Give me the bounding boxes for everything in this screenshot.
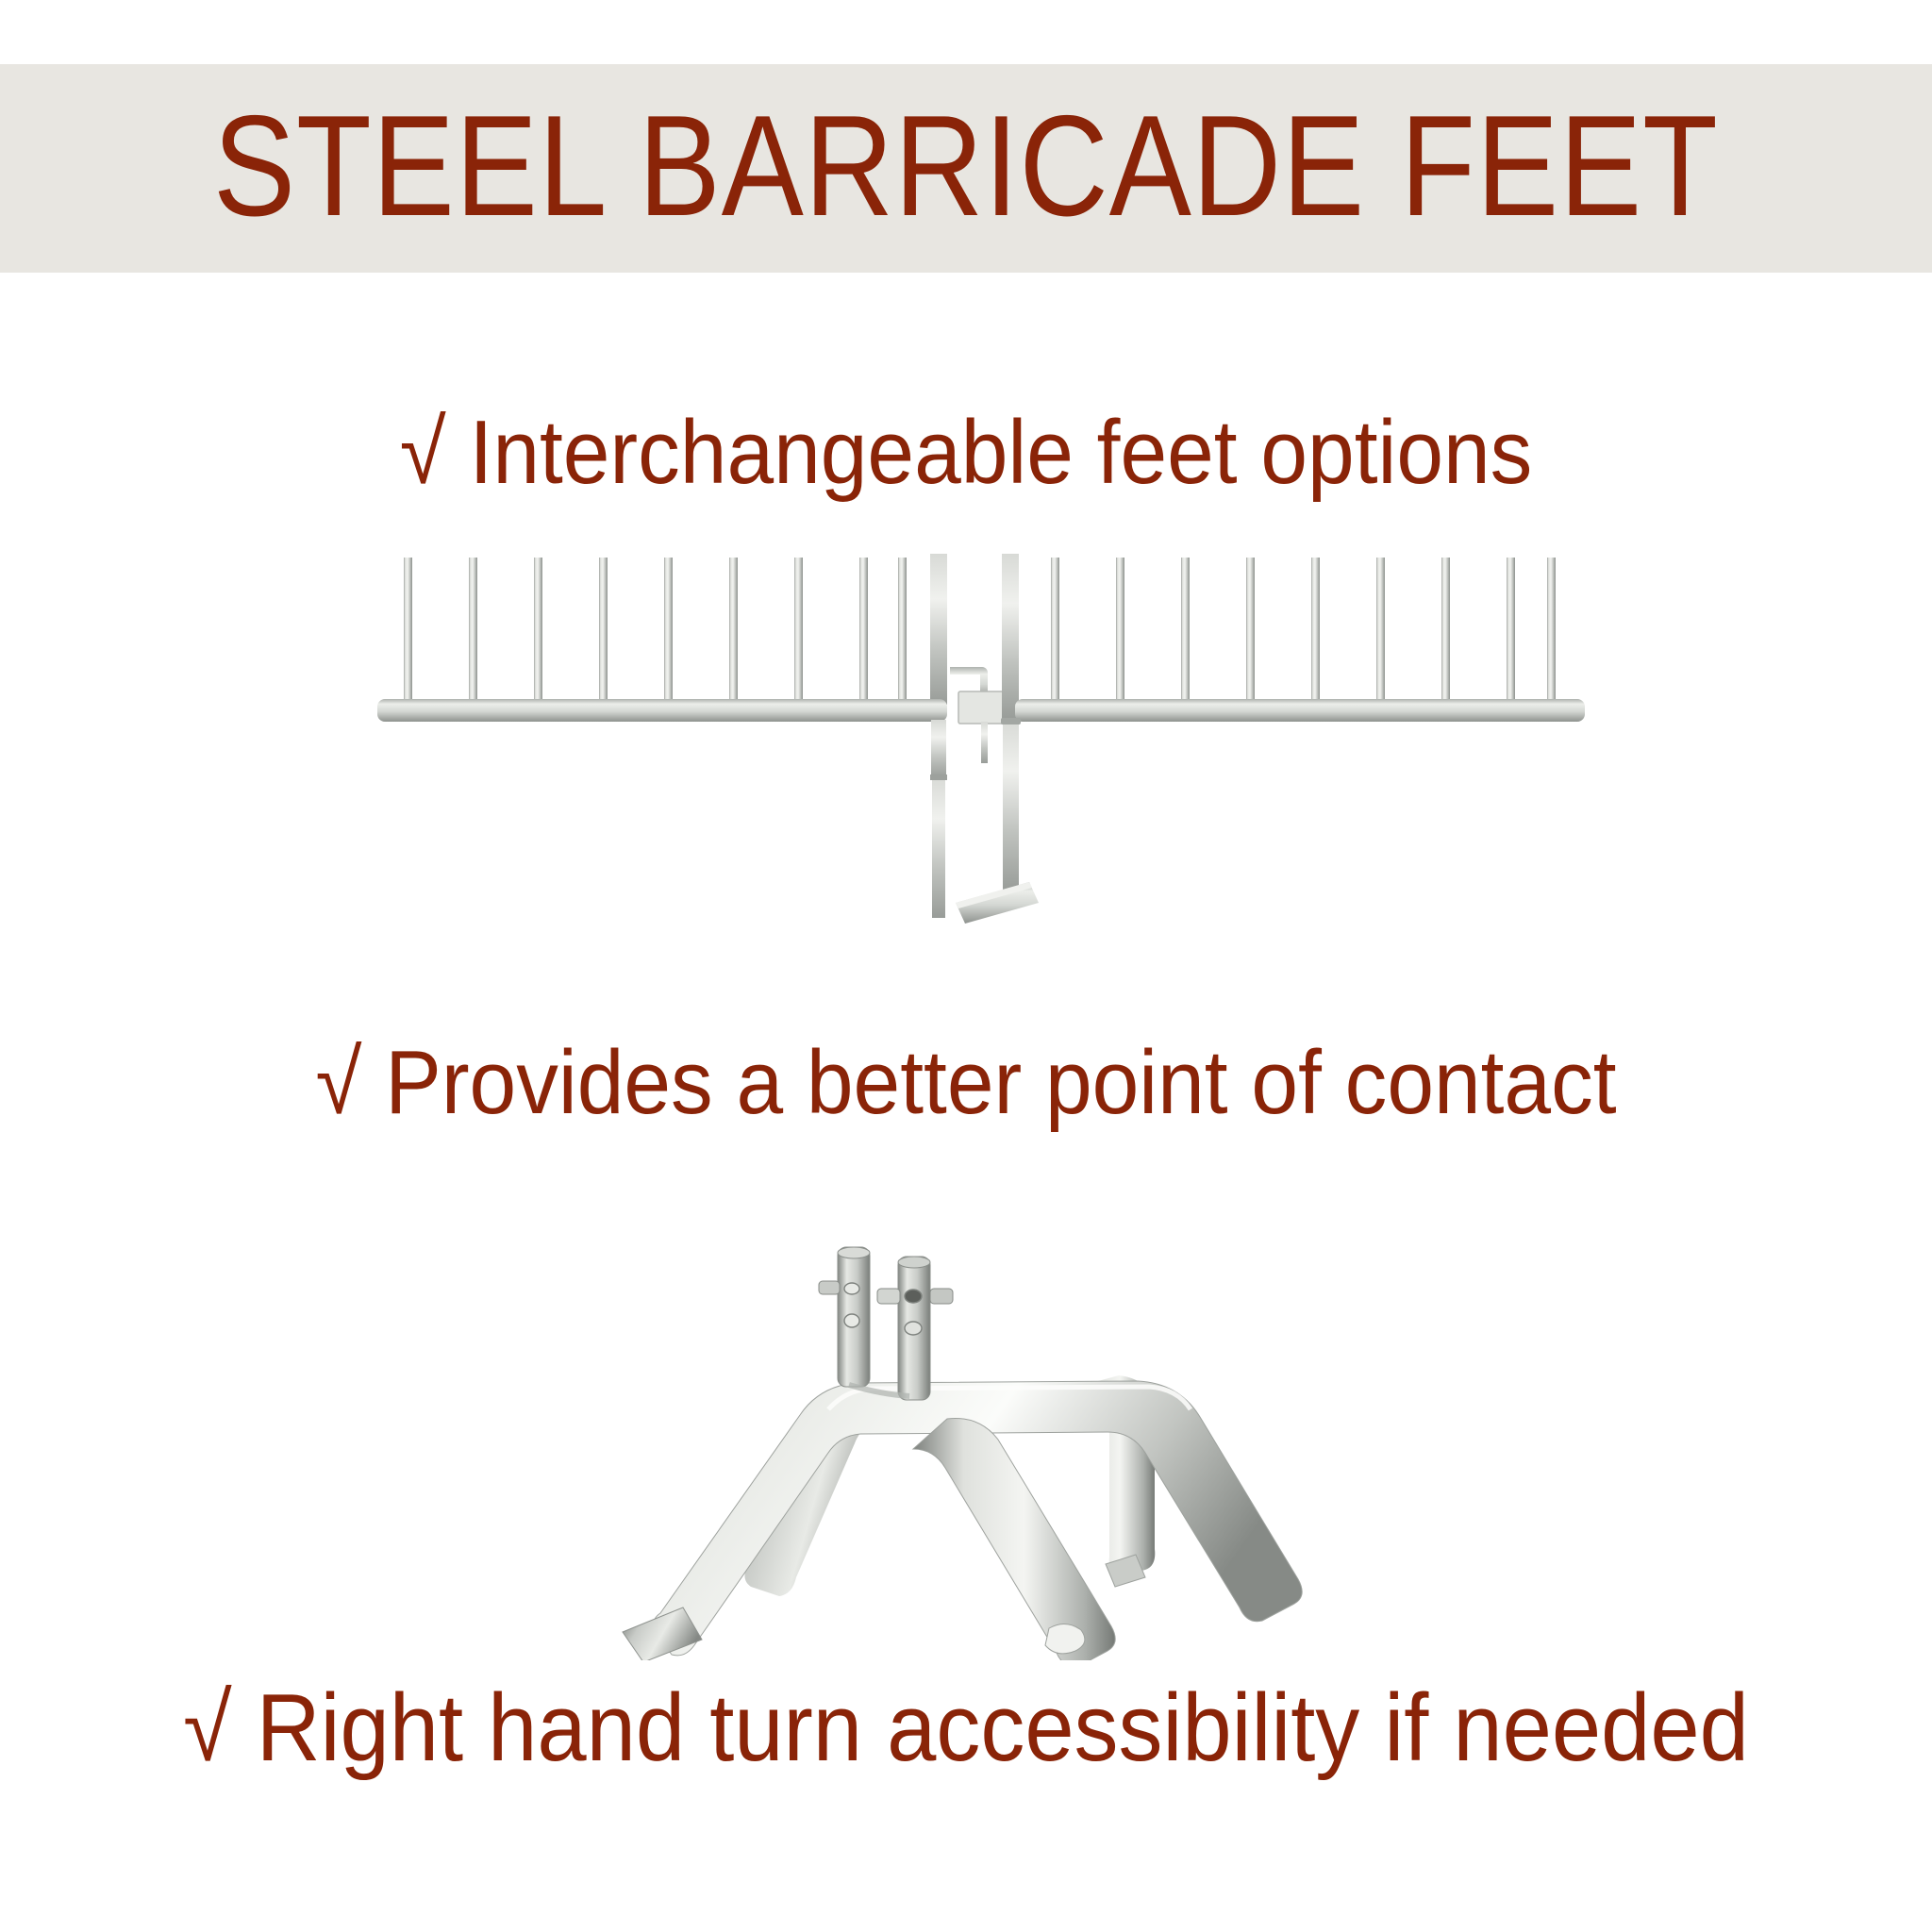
page-title: STEEL BARRICADE FEET [213,94,1719,238]
header-banner: STEEL BARRICADE FEET [0,64,1932,273]
feature-item-interchangeable-feet: √ Interchangeable feet options [68,408,1865,498]
left-panel-bottom-rail [377,699,947,722]
left-panel-post [930,554,947,705]
angled-bridge-foot [956,718,1039,924]
foot-pad-front-right [1045,1624,1085,1653]
right-panel-bars [1051,558,1556,701]
barricade-foot-product-image [566,1207,1415,1660]
left-panel-bars [404,558,907,701]
foot-socket-right [877,1257,953,1400]
foot-socket-left [819,1247,870,1387]
foot-leg-front-right [913,1418,1115,1660]
feature-item-right-hand-turn: √ Right hand turn accessibility if neede… [68,1681,1865,1776]
barricade-foot-illustration [566,1207,1415,1660]
barricade-product-image [377,552,1585,967]
feature-item-point-of-contact: √ Provides a better point of contact [68,1038,1865,1128]
right-panel-bottom-rail [1015,699,1585,722]
right-panel-post [1002,554,1019,720]
barricade-illustration [377,552,1585,967]
flat-bar-foot [930,720,947,918]
